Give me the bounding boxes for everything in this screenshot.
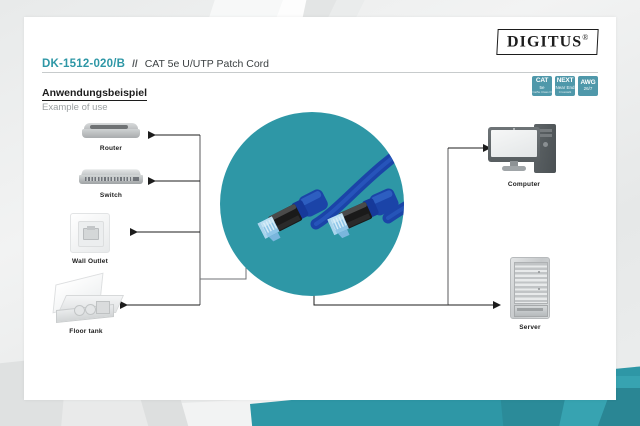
floor-tank-icon	[52, 279, 120, 323]
node-wall-outlet[interactable]: Wall Outlet	[70, 213, 110, 265]
product-photo-circle	[220, 112, 404, 296]
node-server[interactable]: Server	[510, 257, 550, 331]
node-floor-tank[interactable]: Floor tank	[52, 279, 120, 335]
node-label-router: Router	[100, 145, 122, 152]
node-router[interactable]: Router	[82, 123, 140, 152]
slide-canvas: DIGITUS® DK-1512-020/B // CAT 5e U/UTP P…	[0, 0, 640, 426]
document-page: DIGITUS® DK-1512-020/B // CAT 5e U/UTP P…	[24, 17, 616, 400]
node-computer[interactable]: Computer	[488, 124, 560, 188]
computer-icon	[488, 124, 560, 176]
node-label-server: Server	[519, 324, 540, 331]
application-diagram: Router Switch Wall Outlet Floor t	[24, 17, 616, 400]
node-label-floor-tank: Floor tank	[69, 328, 102, 335]
switch-icon	[79, 169, 143, 187]
node-label-switch: Switch	[100, 192, 122, 199]
node-label-computer: Computer	[508, 181, 540, 188]
node-label-wall-outlet: Wall Outlet	[72, 258, 108, 265]
wall-outlet-icon	[70, 213, 110, 253]
patch-cord-illustration	[220, 112, 404, 296]
server-icon	[510, 257, 550, 319]
node-switch[interactable]: Switch	[79, 169, 143, 199]
router-icon	[82, 123, 140, 140]
